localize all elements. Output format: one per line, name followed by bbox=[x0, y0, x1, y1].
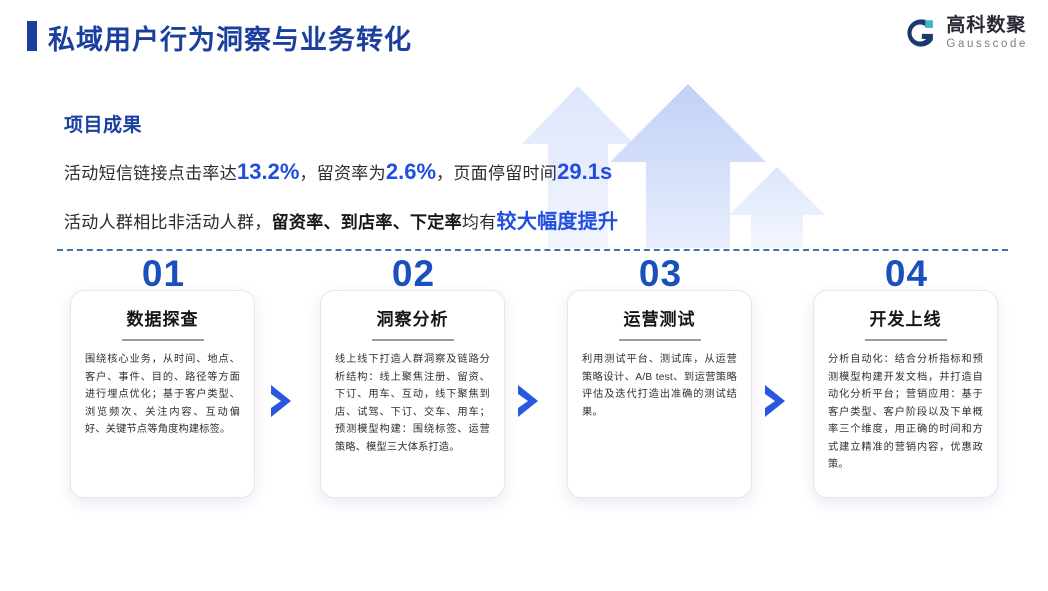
results-heading: 项目成果 bbox=[64, 110, 618, 137]
step-number-03: 03 bbox=[568, 253, 753, 295]
process-steps: 01 数据探查 围绕核心业务，从时间、地点、客户、事件、目的、路径等方面进行埋点… bbox=[0, 268, 1048, 538]
metric-dwell-time: 29.1s bbox=[557, 159, 612, 184]
section-divider bbox=[57, 249, 1008, 251]
results-line-1: 活动短信链接点击率达13.2%，留资率为2.6%，页面停留时间29.1s bbox=[64, 159, 618, 185]
results-line-2: 活动人群相比非活动人群，留资率、到店率、下定率均有较大幅度提升 bbox=[64, 205, 618, 234]
step-card-02[interactable]: 02 洞察分析 线上线下打造人群洞察及链路分析结构：线上聚焦注册、留资、下订、用… bbox=[320, 290, 505, 498]
step-body-01: 围绕核心业务，从时间、地点、客户、事件、目的、路径等方面进行埋点优化；基于客户类… bbox=[85, 351, 240, 439]
step-rule-02 bbox=[372, 339, 454, 341]
step-card-04[interactable]: 04 开发上线 分析自动化：结合分析指标和预测模型构建开发文档，并打造自动化分析… bbox=[813, 290, 998, 498]
results-line1-seg2: ，留资率为 bbox=[299, 164, 386, 183]
chevron-right-icon bbox=[762, 384, 788, 418]
step-card-01[interactable]: 01 数据探查 围绕核心业务，从时间、地点、客户、事件、目的、路径等方面进行埋点… bbox=[70, 290, 255, 498]
metric-lead-rate: 2.6% bbox=[386, 159, 436, 184]
step-number-04: 04 bbox=[814, 253, 999, 295]
results-line2-seg2: 均有 bbox=[462, 213, 497, 232]
step-body-02: 线上线下打造人群洞察及链路分析结构：线上聚焦注册、留资、下订、用车、互动，线下聚… bbox=[335, 351, 490, 456]
logo-name-en: Gausscode bbox=[946, 39, 1028, 51]
step-title-02: 洞察分析 bbox=[321, 305, 504, 330]
slide-root: 私域用户行为洞察与业务转化 高科数聚 Gausscode 项目成果 活动短信链接… bbox=[0, 0, 1048, 591]
logo-name-cn: 高科数聚 bbox=[946, 16, 1028, 35]
title-accent-bar bbox=[27, 21, 37, 51]
chevron-right-icon bbox=[515, 384, 541, 418]
step-body-04: 分析自动化：结合分析指标和预测模型构建开发文档，并打造自动化分析平台；营销应用：… bbox=[828, 351, 983, 474]
slide-header: 私域用户行为洞察与业务转化 高科数聚 Gausscode bbox=[0, 0, 1048, 72]
step-title-03: 运营测试 bbox=[568, 305, 751, 330]
up-arrow-decor-center bbox=[610, 84, 766, 248]
logo-text-block: 高科数聚 Gausscode bbox=[946, 16, 1028, 51]
results-line1-seg3: ，页面停留时间 bbox=[436, 164, 557, 183]
step-body-03: 利用测试平台、测试库，从运营策略设计、A/B test、到运营策略评估及迭代打造… bbox=[582, 351, 737, 421]
step-number-01: 01 bbox=[71, 253, 256, 295]
results-line2-seg1: 活动人群相比非活动人群， bbox=[64, 213, 272, 232]
results-line2-bold: 留资率、到店率、下定率 bbox=[272, 213, 462, 232]
step-number-02: 02 bbox=[321, 253, 506, 295]
step-card-03[interactable]: 03 运营测试 利用测试平台、测试库，从运营策略设计、A/B test、到运营策… bbox=[567, 290, 752, 498]
up-arrow-decor-right bbox=[729, 167, 825, 248]
project-results-block: 项目成果 活动短信链接点击率达13.2%，留资率为2.6%，页面停留时间29.1… bbox=[64, 110, 618, 234]
gausscode-logo-mark bbox=[904, 16, 938, 50]
metric-click-rate: 13.2% bbox=[237, 159, 299, 184]
step-title-01: 数据探查 bbox=[71, 305, 254, 330]
results-line1-seg1: 活动短信链接点击率达 bbox=[64, 164, 237, 183]
step-title-04: 开发上线 bbox=[814, 305, 997, 330]
step-rule-01 bbox=[122, 339, 204, 341]
brand-logo: 高科数聚 Gausscode bbox=[904, 16, 1028, 51]
page-title: 私域用户行为洞察与业务转化 bbox=[48, 18, 412, 57]
chevron-right-icon bbox=[268, 384, 294, 418]
step-rule-04 bbox=[865, 339, 947, 341]
step-rule-03 bbox=[619, 339, 701, 341]
results-line2-highlight: 较大幅度提升 bbox=[497, 211, 619, 233]
